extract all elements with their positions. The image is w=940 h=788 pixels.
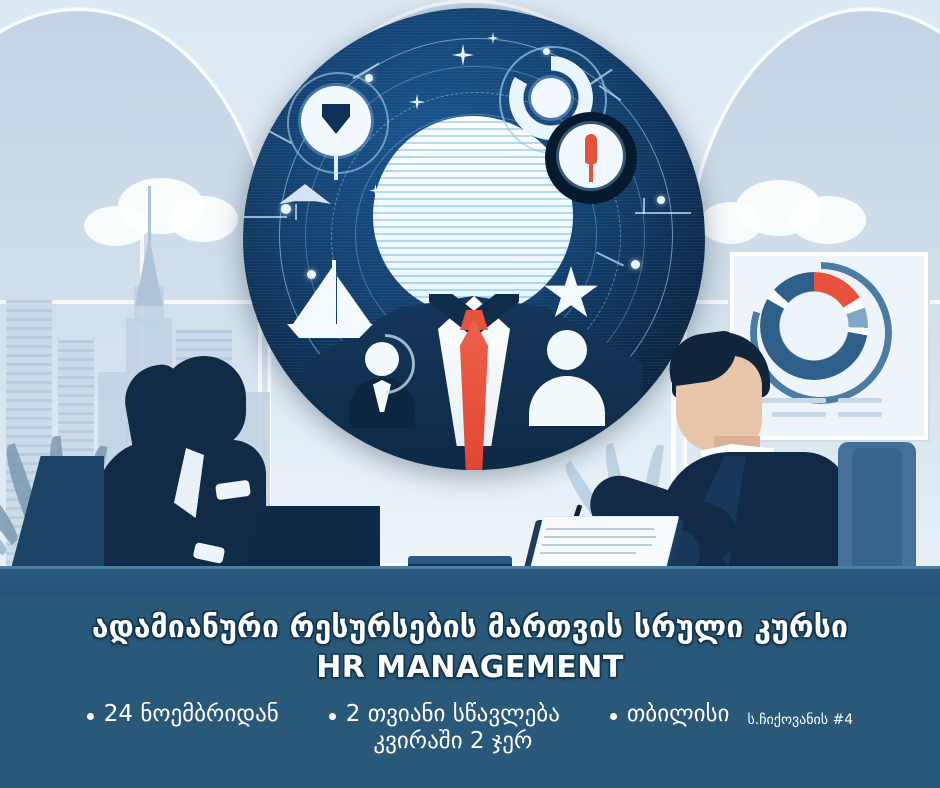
bullet-dot-icon	[610, 713, 617, 720]
cloud	[700, 202, 762, 244]
avatar-arc-outline	[355, 334, 415, 394]
orbit-node	[657, 196, 665, 204]
hud-tick	[295, 204, 297, 220]
badge-ring-outline	[287, 72, 389, 174]
woman-hand-chin	[198, 434, 236, 468]
donut-chart	[760, 272, 868, 380]
fact-city: თბილისი	[610, 701, 730, 728]
desk-surface	[0, 566, 940, 600]
desk-edge-highlight	[0, 566, 940, 569]
fact-duration-label: 2 თვიანი სწავლება კვირაში 2 ჯერ	[346, 701, 560, 755]
orbit-node	[631, 260, 640, 269]
sailboat-icon-mast	[332, 260, 336, 326]
fact-duration: 2 თვიანი სწავლება კვირაში 2 ჯერ	[329, 701, 560, 755]
poster-text-line	[838, 412, 882, 417]
bullet-dot-icon	[329, 713, 336, 720]
notebook-on-desk-edge	[408, 556, 512, 564]
user-avatar-light-icon	[525, 330, 609, 426]
hud-tick	[643, 198, 645, 214]
orbit-node	[281, 204, 291, 214]
poster-text-line	[838, 398, 882, 403]
orbit-node	[307, 270, 316, 279]
skyline-spire	[135, 236, 163, 306]
hr-course-poster: ადამიანური რესურსების მართვის სრული კურს…	[0, 0, 940, 788]
course-facts-row: 24 ნოემბრიდან 2 თვიანი სწავლება კვირაში …	[0, 701, 940, 755]
course-subtitle: HR MANAGEMENT	[0, 650, 940, 685]
course-info-banner: ადამიანური რესურსების მართვის სრული კურს…	[0, 598, 940, 788]
fact-city-label: თბილისი	[627, 701, 730, 728]
user-avatar-dark-icon	[343, 338, 423, 428]
avatar-head	[547, 330, 587, 370]
page-title: ადამიანური რესურსების მართვის სრული კურს…	[0, 598, 940, 644]
poster-text-line	[772, 412, 826, 417]
skyline-antenna	[148, 186, 151, 244]
hr-concept-hub	[243, 8, 705, 470]
venue-address: ს.ჩიქოვანის #4	[747, 712, 853, 728]
fact-start-date: 24 ნოემბრიდან	[87, 701, 279, 728]
person-marker-pin	[589, 160, 593, 182]
avatar-body	[529, 376, 605, 426]
hud-tick	[243, 216, 287, 218]
cloud	[790, 196, 866, 244]
sailboat-icon-hull	[287, 324, 373, 338]
bullet-dot-icon	[87, 713, 94, 720]
poster-text-line	[756, 398, 826, 403]
cloud	[168, 196, 238, 242]
fact-start-date-label: 24 ნოემბრიდან	[104, 701, 279, 728]
